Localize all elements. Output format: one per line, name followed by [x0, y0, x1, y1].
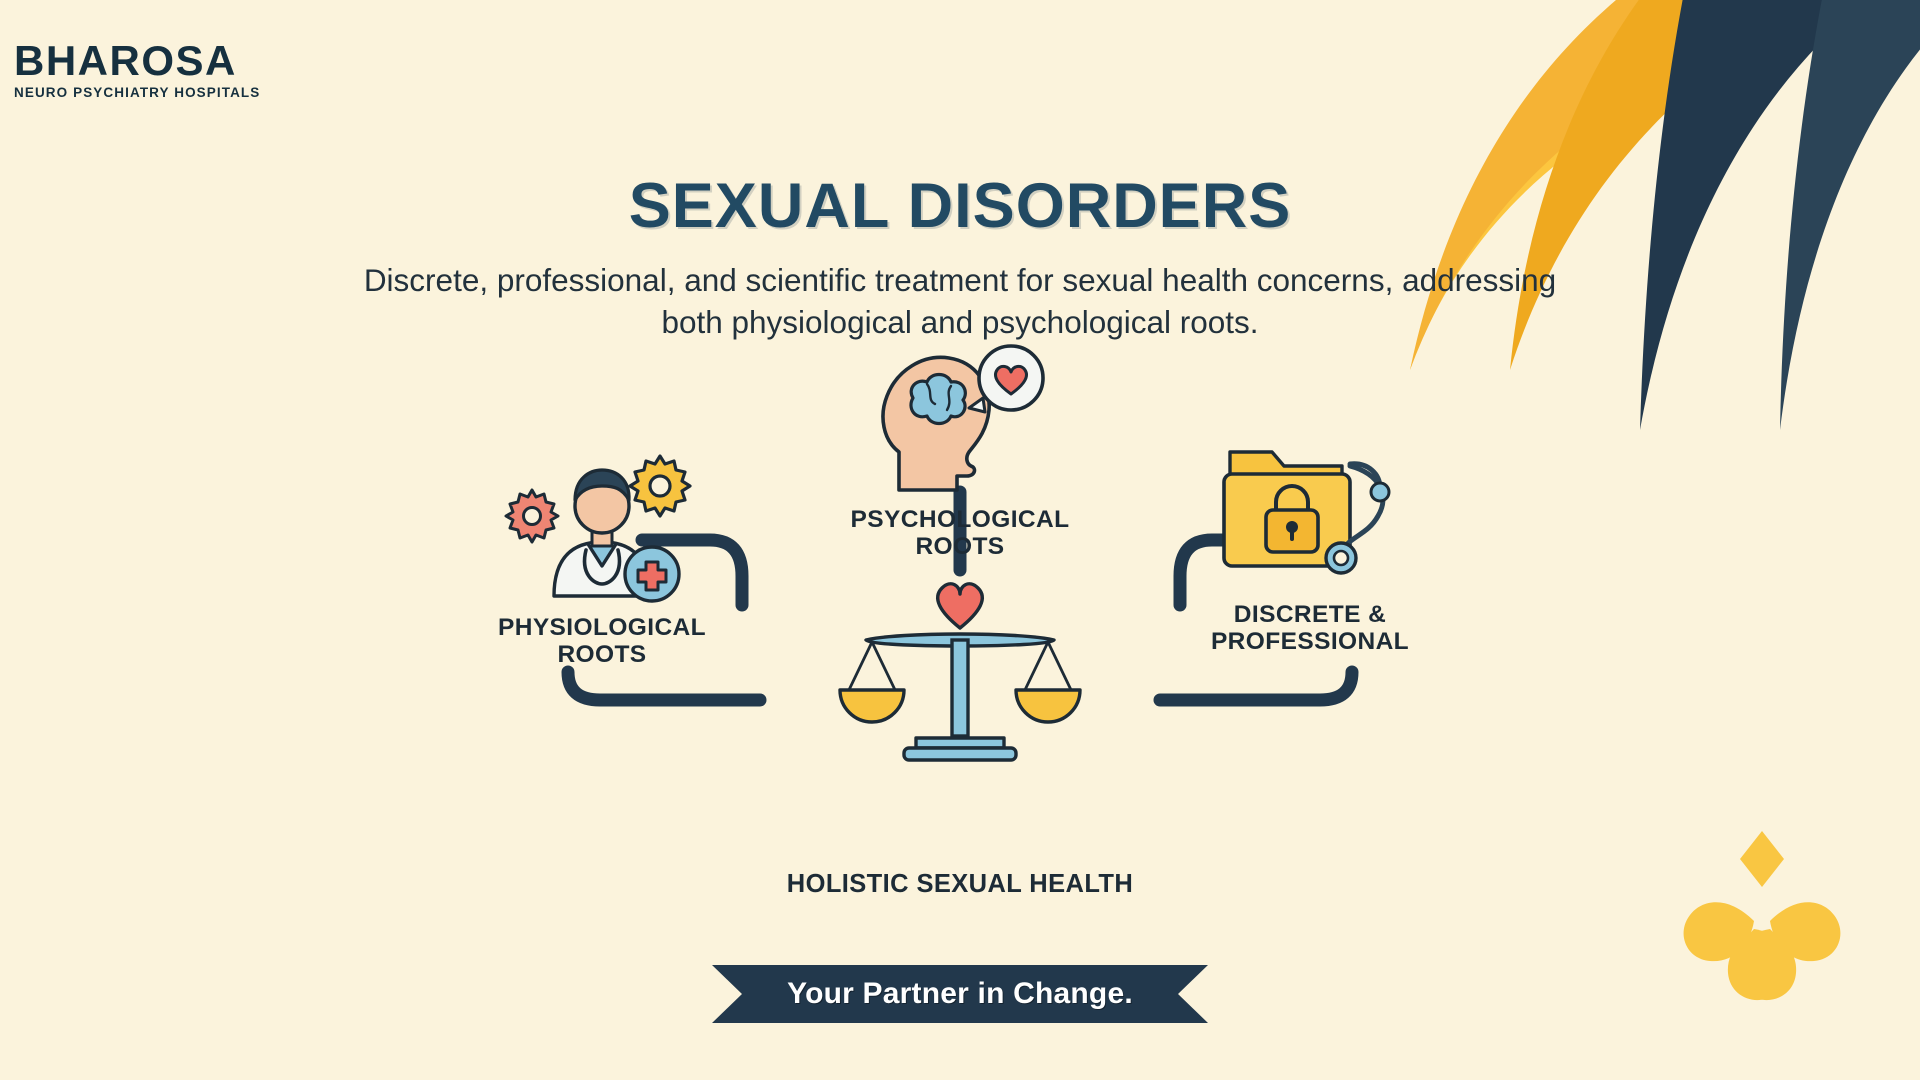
- balance-scale-group: [800, 570, 1120, 785]
- page-subtitle: Discrete, professional, and scientific t…: [330, 260, 1590, 343]
- center-label-holistic: HOLISTIC SEXUAL HEALTH: [460, 870, 1460, 899]
- balance-scale-heart-icon: [800, 570, 1120, 780]
- node-label-psychological: PSYCHOLOGICAL ROOTS: [810, 506, 1110, 561]
- doctor-gears-icon: [502, 438, 702, 608]
- butterfly-logo: [1662, 825, 1862, 1025]
- page-title: SEXUAL DISORDERS: [0, 175, 1920, 238]
- tagline-text: Your Partner in Change.: [712, 965, 1208, 1023]
- diagram-node-discrete: DISCRETE & PROFESSIONAL: [1150, 430, 1470, 656]
- logo-tagline: NEURO PSYCHIATRY HOSPITALS: [14, 86, 260, 100]
- node-label-discrete: DISCRETE & PROFESSIONAL: [1150, 601, 1470, 656]
- tagline-ribbon: Your Partner in Change.: [712, 965, 1208, 1028]
- diagram-node-physiological: PHYSIOLOGICAL ROOTS: [452, 438, 752, 669]
- head-brain-heart-icon: [865, 340, 1055, 500]
- concept-diagram: PHYSIOLOGICAL ROOTS PSYCHOLOGICAL ROOTS: [0, 400, 1920, 960]
- locked-folder-stethoscope-icon: [1210, 430, 1410, 595]
- logo-wordmark: BHAROSA: [14, 40, 260, 82]
- brand-logo: BHAROSA NEURO PSYCHIATRY HOSPITALS: [14, 40, 260, 100]
- header-block: SEXUAL DISORDERS Discrete, professional,…: [0, 175, 1920, 343]
- node-label-physiological: PHYSIOLOGICAL ROOTS: [452, 614, 752, 669]
- poster-canvas: BHAROSA NEURO PSYCHIATRY HOSPITALS SEXUA…: [0, 0, 1920, 1080]
- diagram-node-psychological: PSYCHOLOGICAL ROOTS: [810, 340, 1110, 561]
